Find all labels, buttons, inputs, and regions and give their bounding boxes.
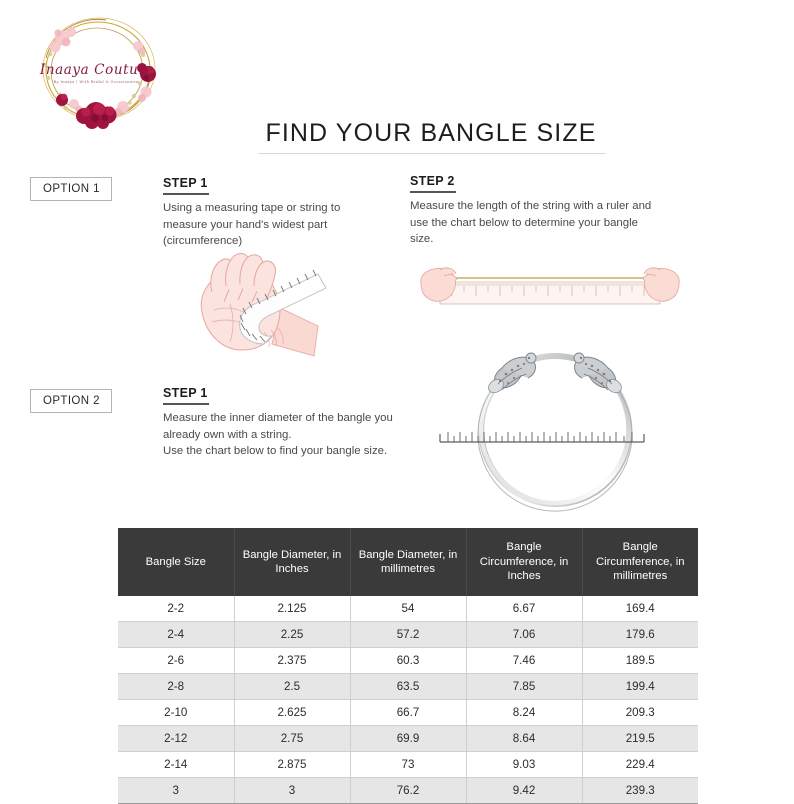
table-cell: 2-6 <box>118 648 234 674</box>
table-cell: 60.3 <box>350 648 466 674</box>
table-cell: 6.67 <box>466 596 582 622</box>
table-cell: 169.4 <box>582 596 698 622</box>
table-cell: 9.03 <box>466 752 582 778</box>
brand-logo: Inaaya Couture By Inaaya | With Bridal &… <box>22 8 172 136</box>
table-cell: 54 <box>350 596 466 622</box>
option-1-badge: OPTION 1 <box>30 177 112 201</box>
column-header-circumference-inches: Bangle Circumference, in Inches <box>466 528 582 596</box>
table-cell: 239.3 <box>582 778 698 804</box>
table-cell: 2-4 <box>118 622 234 648</box>
title-divider <box>258 153 606 154</box>
table-cell: 7.85 <box>466 674 582 700</box>
hands-holding-ruler-icon <box>410 252 690 324</box>
logo-brand-name: Inaaya Couture <box>22 62 172 78</box>
table-cell: 7.46 <box>466 648 582 674</box>
table-cell: 2-8 <box>118 674 234 700</box>
hand-with-measuring-tape-icon <box>168 248 374 370</box>
table-cell: 2.25 <box>234 622 350 648</box>
table-cell: 2.5 <box>234 674 350 700</box>
table-cell: 3 <box>234 778 350 804</box>
table-row: 2-142.875739.03229.4 <box>118 752 698 778</box>
table-row: 2-62.37560.37.46189.5 <box>118 648 698 674</box>
table-cell: 229.4 <box>582 752 698 778</box>
table-cell: 57.2 <box>350 622 466 648</box>
option-1-step-2-text: Measure the length of the string with a … <box>410 198 664 248</box>
silver-bangle-with-ruler-icon <box>428 338 682 514</box>
table-cell: 2-10 <box>118 700 234 726</box>
option-1-step-2-heading: STEP 2 <box>410 174 456 193</box>
column-header-diameter-mm: Bangle Diameter, in millimetres <box>350 528 466 596</box>
table-cell: 189.5 <box>582 648 698 674</box>
table-row: 2-122.7569.98.64219.5 <box>118 726 698 752</box>
column-header-circumference-mm: Bangle Circumference, in millimetres <box>582 528 698 596</box>
table-cell: 219.5 <box>582 726 698 752</box>
table-row: 3376.29.42239.3 <box>118 778 698 804</box>
table-cell: 2.875 <box>234 752 350 778</box>
table-cell: 2.125 <box>234 596 350 622</box>
table-header-row: Bangle Size Bangle Diameter, in Inches B… <box>118 528 698 596</box>
column-header-diameter-inches: Bangle Diameter, in Inches <box>234 528 350 596</box>
option-2-step-1-heading: STEP 1 <box>163 386 209 405</box>
table-row: 2-22.125546.67169.4 <box>118 596 698 622</box>
table-cell: 2-14 <box>118 752 234 778</box>
bangle-size-table: Bangle Size Bangle Diameter, in Inches B… <box>118 528 698 804</box>
column-header-bangle-size: Bangle Size <box>118 528 234 596</box>
option-1-step-1-text: Using a measuring tape or string to meas… <box>163 200 377 250</box>
table-cell: 7.06 <box>466 622 582 648</box>
table-cell: 8.24 <box>466 700 582 726</box>
table-cell: 76.2 <box>350 778 466 804</box>
table-cell: 9.42 <box>466 778 582 804</box>
option-1-step-1-heading: STEP 1 <box>163 176 209 195</box>
table-cell: 199.4 <box>582 674 698 700</box>
table-cell: 73 <box>350 752 466 778</box>
table-row: 2-82.563.57.85199.4 <box>118 674 698 700</box>
table-cell: 3 <box>118 778 234 804</box>
table-row: 2-42.2557.27.06179.6 <box>118 622 698 648</box>
option-2-badge: OPTION 2 <box>30 389 112 413</box>
logo-tagline: By Inaaya | With Bridal & Occasionwear <box>22 80 172 84</box>
table-cell: 69.9 <box>350 726 466 752</box>
table-cell: 8.64 <box>466 726 582 752</box>
table-cell: 179.6 <box>582 622 698 648</box>
table-cell: 63.5 <box>350 674 466 700</box>
page-title: FIND YOUR BANGLE SIZE <box>256 119 606 148</box>
table-cell: 2-2 <box>118 596 234 622</box>
table-body: 2-22.125546.67169.42-42.2557.27.06179.62… <box>118 596 698 804</box>
table-row: 2-102.62566.78.24209.3 <box>118 700 698 726</box>
table-cell: 209.3 <box>582 700 698 726</box>
table-cell: 2.75 <box>234 726 350 752</box>
table-cell: 2.625 <box>234 700 350 726</box>
table-cell: 2.375 <box>234 648 350 674</box>
option-2-step-1-text: Measure the inner diameter of the bangle… <box>163 410 408 460</box>
table-cell: 66.7 <box>350 700 466 726</box>
table-cell: 2-12 <box>118 726 234 752</box>
